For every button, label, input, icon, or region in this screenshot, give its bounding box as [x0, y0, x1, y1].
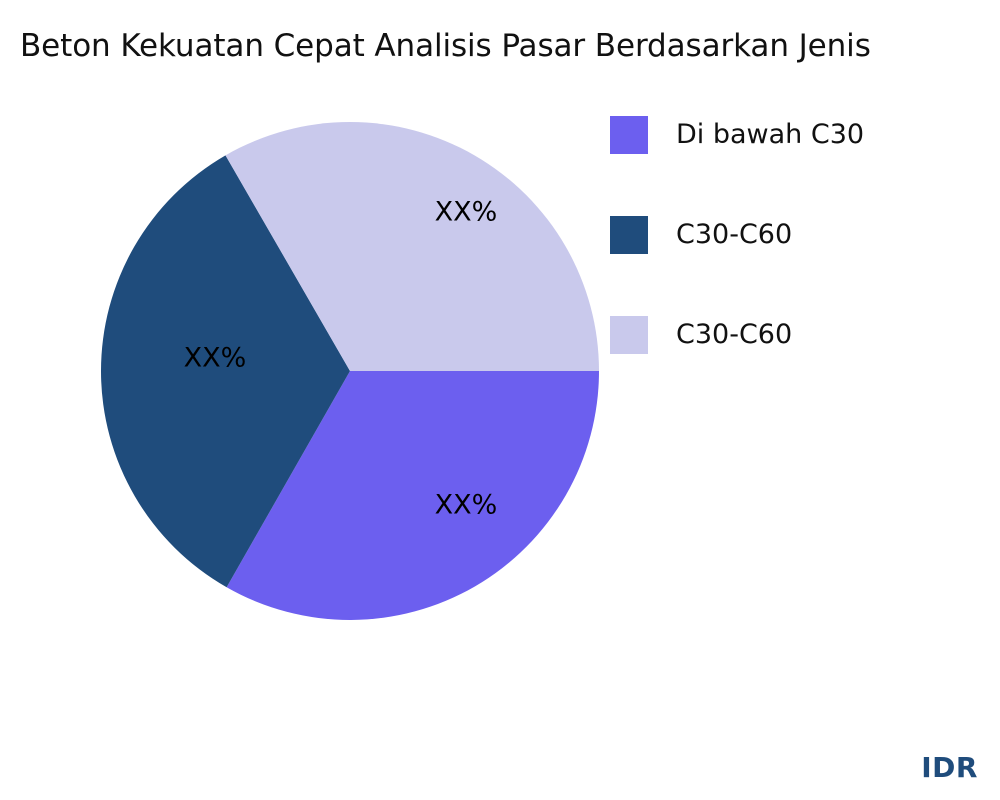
pie-svg [0, 0, 640, 760]
legend-item-c30-c60-dark[interactable]: C30-C60 [610, 216, 990, 316]
legend: Di bawah C30 C30-C60 C30-C60 [610, 116, 990, 416]
pie-slices-group [101, 122, 599, 620]
pie-plot-area: XX%XX%XX% [0, 0, 640, 760]
legend-item-label: C30-C60 [676, 213, 792, 257]
legend-swatch-icon [610, 116, 648, 154]
legend-swatch-icon [610, 216, 648, 254]
legend-item-c30-c60-light[interactable]: C30-C60 [610, 316, 990, 416]
legend-item-label: Di bawah C30 [676, 113, 864, 157]
legend-swatch-icon [610, 316, 648, 354]
watermark-idr: IDR [921, 751, 978, 784]
pie-chart-figure: Beton Kekuatan Cepat Analisis Pasar Berd… [0, 0, 1000, 800]
legend-item-label: C30-C60 [676, 313, 792, 357]
legend-item-di-bawah-c30[interactable]: Di bawah C30 [610, 116, 990, 216]
